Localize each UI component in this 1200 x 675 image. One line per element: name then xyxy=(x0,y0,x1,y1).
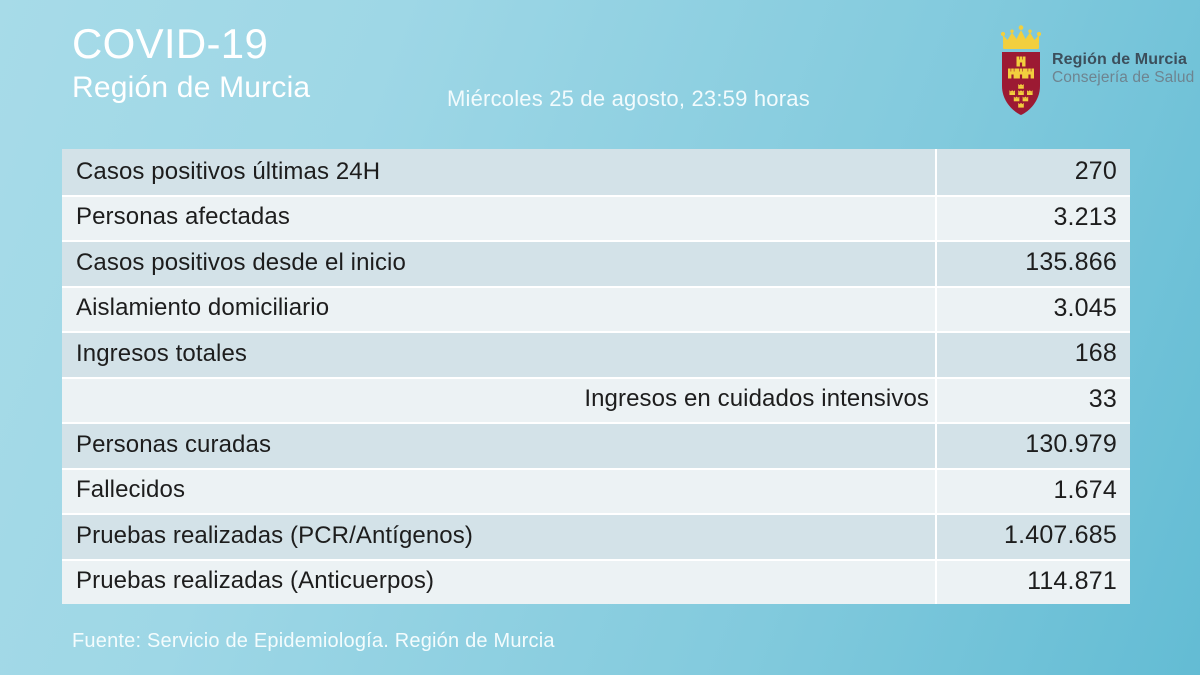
row-value: 1.674 xyxy=(937,476,1130,505)
row-label: Aislamiento domiciliario xyxy=(62,294,935,322)
row-label: Pruebas realizadas (Anticuerpos) xyxy=(62,567,935,595)
covid-statistics-table: Casos positivos últimas 24H 270 Personas… xyxy=(62,149,1130,604)
row-value: 3.045 xyxy=(937,294,1130,323)
logo-department-name: Consejería de Salud xyxy=(1052,69,1197,87)
table-row: Personas curadas 130.979 xyxy=(62,422,1130,468)
row-label: Casos positivos últimas 24H xyxy=(62,158,935,186)
table-row: Casos positivos desde el inicio 135.866 xyxy=(62,240,1130,286)
row-value: 33 xyxy=(937,385,1130,414)
row-value: 135.866 xyxy=(937,248,1130,277)
table-row: Pruebas realizadas (PCR/Antígenos) 1.407… xyxy=(62,513,1130,559)
covid-stats-slide: COVID-19 Región de Murcia Miércoles 25 d… xyxy=(0,0,1200,675)
table-row: Fallecidos 1.674 xyxy=(62,468,1130,514)
table-row: Pruebas realizadas (Anticuerpos) 114.871 xyxy=(62,559,1130,605)
row-value: 3.213 xyxy=(937,203,1130,232)
row-value: 168 xyxy=(937,339,1130,368)
row-label: Casos positivos desde el inicio xyxy=(62,249,935,277)
page-subtitle: Región de Murcia xyxy=(72,70,310,106)
logo-organization-name: Región de Murcia xyxy=(1052,51,1197,69)
slide-header: COVID-19 Región de Murcia Miércoles 25 d… xyxy=(0,0,1200,140)
row-label: Fallecidos xyxy=(62,476,935,504)
row-value: 1.407.685 xyxy=(937,521,1130,550)
row-label: Ingresos totales xyxy=(62,340,935,368)
row-label: Personas afectadas xyxy=(62,203,935,231)
row-value: 270 xyxy=(937,157,1130,186)
source-note: Fuente: Servicio de Epidemiología. Regió… xyxy=(72,630,555,653)
logo-text-block: Región de Murcia Consejería de Salud xyxy=(1052,51,1197,87)
page-title: COVID-19 xyxy=(72,22,310,66)
table-row: Ingresos totales 168 xyxy=(62,331,1130,377)
table-row: Personas afectadas 3.213 xyxy=(62,195,1130,241)
table-row-sub: Ingresos en cuidados intensivos 33 xyxy=(62,377,1130,423)
region-de-murcia-logo: Región de Murcia Consejería de Salud xyxy=(995,23,1195,123)
row-label: Personas curadas xyxy=(62,431,935,459)
title-block: COVID-19 Región de Murcia xyxy=(72,22,310,106)
row-value: 114.871 xyxy=(937,567,1130,596)
row-label: Pruebas realizadas (PCR/Antígenos) xyxy=(62,522,935,550)
table-row: Aislamiento domiciliario 3.045 xyxy=(62,286,1130,332)
row-label: Ingresos en cuidados intensivos xyxy=(62,385,935,413)
murcia-coat-of-arms-icon xyxy=(995,23,1047,119)
row-value: 130.979 xyxy=(937,430,1130,459)
report-datetime: Miércoles 25 de agosto, 23:59 horas xyxy=(447,86,810,112)
table-row: Casos positivos últimas 24H 270 xyxy=(62,149,1130,195)
